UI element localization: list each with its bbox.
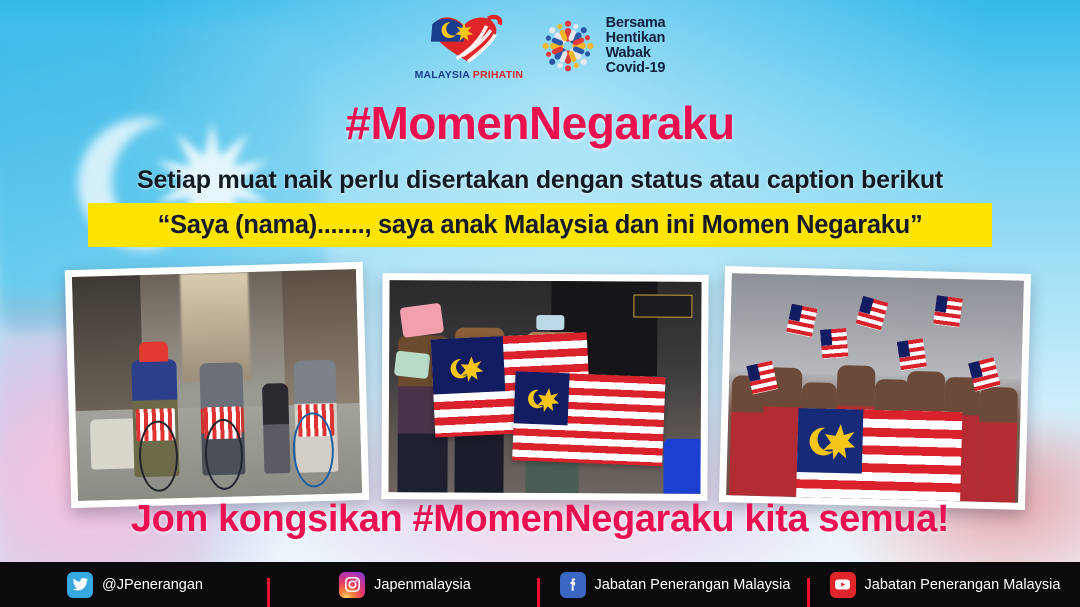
footer-label-facebook: Jabatan Penerangan Malaysia [595, 577, 791, 593]
prihatin-wordmark: MALAYSIA PRIHATIN [415, 69, 519, 81]
covid-wordmark: Bersama Hentikan Wabak Covid-19 [606, 16, 666, 75]
photo-family-cycling-image [72, 269, 362, 501]
footer-label-instagram: Japenmalaysia [374, 577, 471, 593]
caption-banner-text: “Saya (nama)......., saya anak Malaysia … [158, 211, 923, 240]
facebook-icon [560, 572, 586, 598]
instruction-subtitle: Setiap muat naik perlu disertakan dengan… [0, 166, 1080, 195]
prihatin-word-prihatin: PRIHATIN [473, 69, 523, 81]
covid-line-1: Bersama [606, 16, 666, 31]
instagram-icon [339, 572, 365, 598]
footer-item-facebook[interactable]: Jabatan Penerangan Malaysia [540, 572, 810, 598]
youtube-icon [830, 572, 856, 598]
footer-item-twitter[interactable]: @JPenerangan [0, 572, 270, 598]
covid-line-4: Covid-19 [606, 61, 666, 76]
twitter-icon [67, 572, 93, 598]
poster-canvas: MALAYSIA PRIHATIN [0, 0, 1080, 607]
footer-item-instagram[interactable]: Japenmalaysia [270, 572, 540, 598]
photo-women-holding-flags [381, 273, 708, 501]
people-circle-icon [537, 15, 599, 77]
footer-label-youtube: Jabatan Penerangan Malaysia [865, 577, 1061, 593]
prihatin-word-malaysia: MALAYSIA [415, 69, 470, 81]
prihatin-heart-flag-icon [425, 13, 511, 63]
photo-family-cycling [65, 262, 370, 508]
photo-students-waving-flags-image [726, 273, 1024, 503]
covid-campaign-logo: Bersama Hentikan Wabak Covid-19 [537, 15, 666, 77]
caption-banner: “Saya (nama)......., saya anak Malaysia … [88, 203, 992, 247]
photo-students-waving-flags [719, 266, 1031, 510]
covid-line-3: Wabak [606, 46, 666, 61]
social-footer-bar: @JPenerangan Japenmalaysia Jabatan Pener… [0, 562, 1080, 607]
photo-women-holding-flags-image [388, 280, 701, 494]
page-title-hashtag: #MomenNegaraku [0, 96, 1080, 150]
footer-item-youtube[interactable]: Jabatan Penerangan Malaysia [810, 572, 1080, 598]
call-to-action-text: Jom kongsikan #MomenNegaraku kita semua! [0, 498, 1080, 541]
malaysia-prihatin-logo: MALAYSIA PRIHATIN [415, 11, 519, 81]
logo-bar: MALAYSIA PRIHATIN [0, 8, 1080, 84]
footer-label-twitter: @JPenerangan [102, 577, 203, 593]
covid-line-2: Hentikan [606, 31, 666, 46]
